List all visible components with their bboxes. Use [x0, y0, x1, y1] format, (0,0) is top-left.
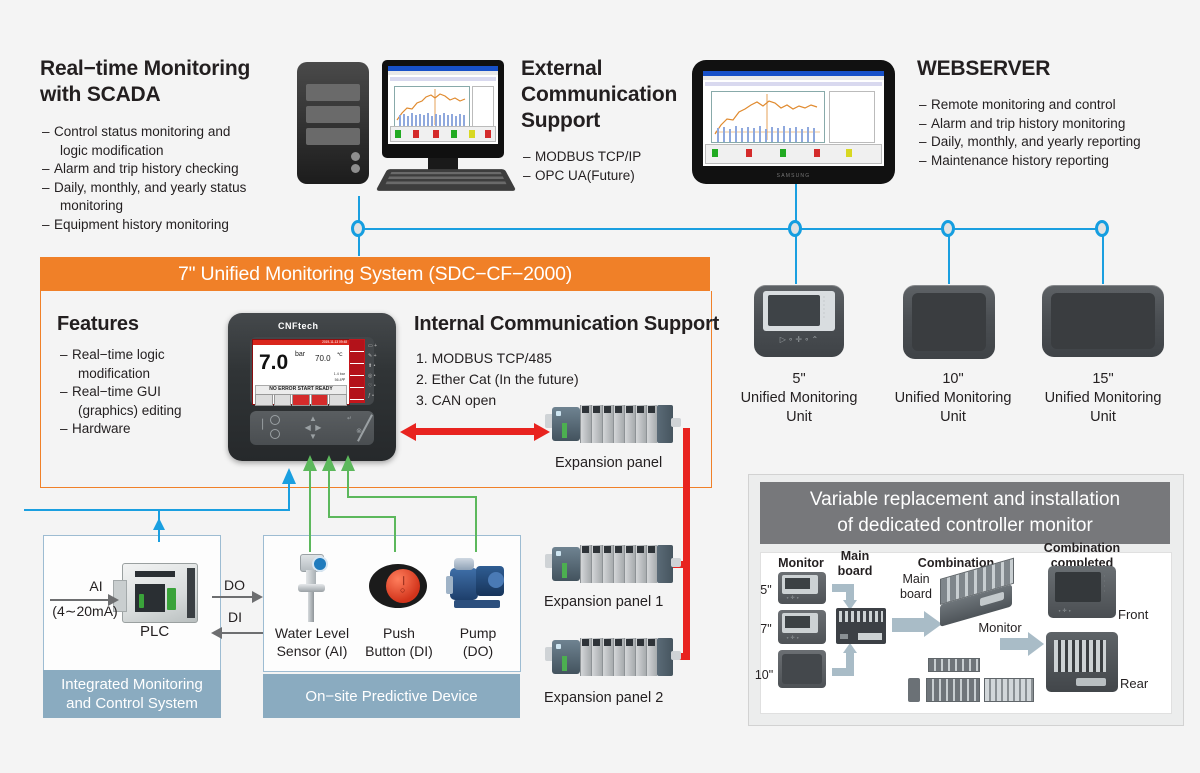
- hmi-fkey[interactable]: [311, 394, 329, 406]
- di-arrow-line: [222, 632, 264, 634]
- di-arrow-head: [211, 627, 222, 639]
- external-comm-title: External Communication Support: [521, 56, 711, 134]
- plc-uplink-line: [158, 511, 160, 523]
- hmi-temperature-unit: ℃: [337, 352, 343, 358]
- unit-size: 5": [726, 370, 872, 389]
- button-uplink-v2: [394, 516, 396, 552]
- col-monitor-label: Monitor: [770, 556, 832, 571]
- hmi-side-rail[interactable]: [349, 339, 365, 403]
- expansion-panel-2-graphic: [552, 638, 672, 676]
- arrow-head-completed: [1028, 632, 1044, 656]
- hmi-fkey[interactable]: [329, 394, 347, 406]
- ai-signal-label: AI: [62, 578, 130, 594]
- button-uplink-arrow: [322, 455, 336, 471]
- monitor-10in-thumb: [778, 650, 826, 688]
- button-uplink-h: [328, 516, 396, 518]
- plc-caption: Integrated Monitoring and Control System: [43, 670, 221, 718]
- webserver-screenshot: [703, 71, 884, 166]
- board-strip-3: [984, 678, 1034, 702]
- plc-uplink-stub: [158, 530, 160, 542]
- unit-5in-device: :::::::::::: ▷ ∘ ✛ ∘ ⌃: [754, 285, 844, 357]
- network-bus-line: [358, 228, 1103, 230]
- push-button-icon: ❘○: [369, 560, 427, 612]
- board-block: [908, 678, 920, 702]
- ai-range-label: (4∼20mA): [45, 603, 125, 620]
- list-item: –Equipment history monitoring: [42, 216, 312, 235]
- unit-desc-line2: Unit: [726, 408, 872, 427]
- scada-screenshot: [388, 66, 498, 144]
- bullet-dash: –: [60, 383, 72, 402]
- list-item: –Real−time GUI: [60, 383, 220, 402]
- button-uplink-v: [328, 470, 330, 518]
- pump-label: Pump (DO): [440, 624, 516, 660]
- bullet-dash: –: [42, 179, 54, 198]
- arrow-10in-up: [846, 652, 854, 672]
- hmi-timestamp: 2019-11-13 09:48: [322, 340, 347, 344]
- completed-front-device: :::: ∘ ✛ ∘: [1048, 566, 1116, 618]
- list-item: –Maintenance history reporting: [919, 152, 1194, 171]
- list-item: 1. MODBUS TCP/485: [416, 348, 579, 369]
- list-item: –Remote monitoring and control: [919, 96, 1194, 115]
- pump-uplink-v2: [475, 496, 477, 552]
- water-level-sensor-icon: [292, 552, 332, 622]
- bus-node: [1095, 220, 1109, 237]
- drive-bay: [306, 106, 361, 123]
- list-item: –Daily, monthly, and yearly reporting: [919, 133, 1194, 152]
- size-5-label: 5": [756, 583, 776, 598]
- hmi-display: warning 2019-11-13 09:48 7.0 bar 70.0 ℃ …: [252, 339, 350, 405]
- completed-rear-device: [1046, 632, 1118, 692]
- list-item: –Hardware: [60, 420, 220, 439]
- desktop-monitor-icon: [382, 60, 504, 158]
- drive-bay: [306, 84, 361, 101]
- hmi-sub-value-2: 56.8℉: [335, 378, 345, 382]
- pump-uplink-arrow: [341, 455, 355, 471]
- expansion-panel-label: Expansion panel: [555, 455, 662, 471]
- red-bus-line: [415, 428, 535, 435]
- red-riser: [683, 428, 690, 568]
- hmi-fkey[interactable]: [274, 394, 292, 406]
- external-comm-bullets: –MODBUS TCP/IP –OPC UA(Future): [523, 148, 713, 185]
- unit-desc-line2: Unit: [1030, 408, 1176, 427]
- bullet-dash: –: [919, 133, 931, 152]
- hmi-controller-device[interactable]: CNFtech warning 2019-11-13 09:48 7.0 bar…: [228, 313, 396, 461]
- arrow-to-combination: [892, 618, 926, 632]
- pump-uplink-v: [347, 470, 349, 498]
- water-level-sensor-label: Water Level Sensor (AI): [268, 624, 356, 660]
- list-item: –Alarm and trip history checking: [42, 160, 312, 179]
- expansion-panel-1-label: Expansion panel 1: [544, 594, 663, 610]
- red-riser-2: [683, 561, 690, 660]
- hmi-plc-link-v: [288, 484, 290, 510]
- scada-title-line2: with SCADA: [40, 82, 320, 108]
- unit-desc-line1: Unified Monitoring: [880, 389, 1026, 408]
- di-signal-label: DI: [228, 609, 242, 625]
- pc-tower-icon: [297, 62, 369, 184]
- board-strip-1: [928, 658, 980, 672]
- list-item: modification: [60, 365, 220, 384]
- arrow-head-left: [400, 423, 416, 441]
- expansion-panel-2-label: Expansion panel 2: [544, 690, 663, 706]
- monitor-7in-thumb: ∘ ✛ ∘: [778, 610, 826, 644]
- features-title: Features: [57, 311, 139, 337]
- inner-mainboard-label: Main board: [896, 572, 936, 602]
- list-item: 2. Ether Cat (In the future): [416, 369, 579, 390]
- tablet-device-icon: SAMSUNG: [692, 60, 895, 184]
- webserver-title: WEBSERVER: [917, 56, 1197, 82]
- scada-bullets: –Control status monitoring and logic mod…: [42, 123, 312, 234]
- unit-5in-label: 5" Unified Monitoring Unit: [726, 370, 872, 427]
- onsite-caption: On−site Predictive Device: [263, 674, 520, 718]
- bullet-dash: –: [919, 115, 931, 134]
- list-item: (graphics) editing: [60, 402, 220, 421]
- monitor-5in-thumb: ∘ ✛ ∘: [778, 572, 826, 604]
- list-item: logic modification: [42, 142, 312, 161]
- expansion-panel-graphic: [552, 405, 672, 443]
- list-item: –Daily, monthly, and yearly status: [42, 179, 312, 198]
- bus-node: [788, 220, 802, 237]
- do-arrow-head: [252, 591, 263, 603]
- hmi-pressure-unit: bar: [295, 351, 305, 358]
- variable-header-line1: Variable replacement and installation: [810, 487, 1120, 513]
- bullet-dash: –: [919, 152, 931, 171]
- size-7-label: 7": [756, 622, 776, 637]
- arrow-head-right: [534, 423, 550, 441]
- board-strip-2: [926, 678, 980, 702]
- bus-node: [941, 220, 955, 237]
- ai-arrow-line: [50, 599, 110, 601]
- push-button-label: Push Button (DI): [357, 624, 441, 660]
- front-label: Front: [1118, 607, 1168, 622]
- list-item: –Control status monitoring and: [42, 123, 312, 142]
- reset-button-icon: [351, 164, 360, 173]
- unit-15in-device: [1042, 285, 1164, 357]
- hmi-sub-value-1: 1.4 bar: [334, 372, 345, 376]
- tablet-brand: SAMSUNG: [692, 173, 895, 179]
- hmi-pressure-value: 7.0: [259, 352, 288, 373]
- external-title-line2: Communication: [521, 82, 711, 108]
- inner-monitor-label: Monitor: [965, 620, 1035, 635]
- hmi-keypad[interactable]: ❘ ▲◀ ▶▼ ↵ ⊗: [250, 411, 374, 445]
- bullet-dash: –: [60, 420, 72, 439]
- power-button-icon: [351, 152, 360, 161]
- bus-node: [351, 220, 365, 237]
- orange-panel-header: 7" Unified Monitoring System (SDC−CF−200…: [40, 257, 710, 291]
- bullet-dash: –: [523, 167, 535, 186]
- unit-10in-label: 10" Unified Monitoring Unit: [880, 370, 1026, 427]
- sensor-uplink-v: [309, 470, 311, 552]
- bullet-dash: –: [523, 148, 535, 167]
- plc-caption-line2: and Control System: [61, 694, 203, 713]
- variable-panel-header: Variable replacement and installation of…: [760, 482, 1170, 544]
- bullet-dash: [42, 197, 54, 216]
- bullet-dash: –: [42, 216, 54, 235]
- unit-15in-label: 15" Unified Monitoring Unit: [1030, 370, 1176, 427]
- external-title-line1: External: [521, 56, 711, 82]
- hmi-function-keys[interactable]: [255, 394, 347, 406]
- sensor-uplink-arrow: [303, 455, 317, 471]
- arrow-head-up-board: [843, 643, 857, 653]
- plc-caption-line1: Integrated Monitoring: [61, 675, 203, 694]
- rear-label: Rear: [1120, 676, 1170, 691]
- unit-desc-line1: Unified Monitoring: [1030, 389, 1176, 408]
- list-item: –Real−time logic: [60, 346, 220, 365]
- scada-title: Real−time Monitoring with SCADA: [40, 56, 320, 108]
- col-mainboard-label: Main board: [828, 549, 882, 579]
- list-item: monitoring: [42, 197, 312, 216]
- unit-size: 10": [880, 370, 1026, 389]
- unit-desc-line1: Unified Monitoring: [726, 389, 872, 408]
- drive-bay: [306, 128, 361, 145]
- list-item: –MODBUS TCP/IP: [523, 148, 713, 167]
- do-arrow-line: [212, 596, 254, 598]
- do-signal-label: DO: [224, 577, 245, 593]
- keyboard-icon: [376, 169, 517, 191]
- mainboard-thumb: [836, 608, 886, 644]
- bullet-dash: [60, 365, 72, 384]
- internal-comm-title: Internal Communication Support: [414, 311, 719, 337]
- unit-size: 15": [1030, 370, 1176, 389]
- bullet-dash: [42, 142, 54, 161]
- bullet-dash: –: [42, 160, 54, 179]
- bullet-dash: –: [919, 96, 931, 115]
- pump-icon: [444, 554, 512, 614]
- hmi-plc-link-h: [96, 509, 290, 511]
- hmi-indicator-column: ▭ + ✎ + ⬆ • ◎ • ♡ • ƒ •: [368, 341, 390, 401]
- unit-10in-device: [903, 285, 995, 359]
- hmi-brand-label: CNFtech: [278, 321, 319, 331]
- bullet-dash: –: [42, 123, 54, 142]
- plc-device-label: PLC: [140, 623, 169, 640]
- hmi-uplink-arrow-blue: [282, 468, 296, 484]
- internal-comm-list: 1. MODBUS TCP/485 2. Ether Cat (In the f…: [416, 348, 579, 411]
- hmi-fkey[interactable]: [292, 394, 310, 406]
- plc-device-icon: [122, 563, 198, 623]
- size-10-label: 10": [752, 668, 776, 683]
- list-item: –Alarm and trip history monitoring: [919, 115, 1194, 134]
- webserver-bullets: –Remote monitoring and control –Alarm an…: [919, 96, 1194, 170]
- bullet-dash: [60, 402, 72, 421]
- hmi-fkey[interactable]: [255, 394, 273, 406]
- variable-header-line2: of dedicated controller monitor: [810, 513, 1120, 539]
- expansion-panel-1-graphic: [552, 545, 672, 583]
- pump-uplink-h: [347, 496, 477, 498]
- bullet-dash: –: [60, 346, 72, 365]
- unit-desc-line2: Unit: [880, 408, 1026, 427]
- list-item: –OPC UA(Future): [523, 167, 713, 186]
- arrow-to-completed: [1000, 638, 1030, 650]
- external-title-line3: Support: [521, 108, 711, 134]
- scada-title-line1: Real−time Monitoring: [40, 56, 320, 82]
- features-list: –Real−time logic modification –Real−time…: [60, 346, 220, 439]
- hmi-temperature-value: 70.0: [315, 354, 331, 363]
